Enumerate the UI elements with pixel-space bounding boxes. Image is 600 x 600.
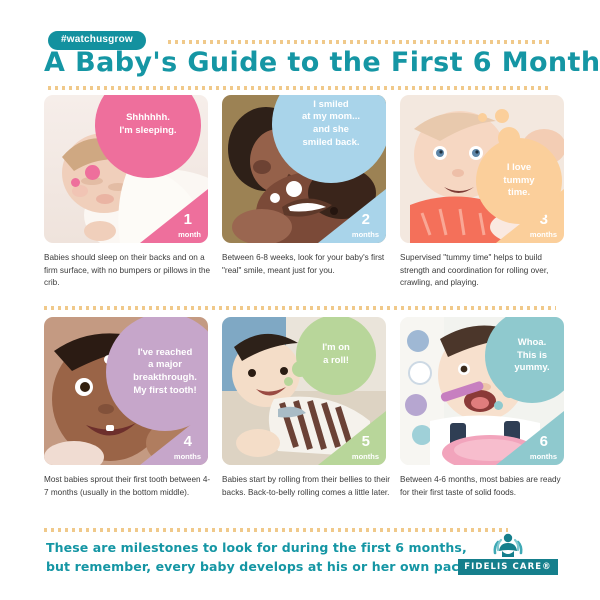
speech-bubble-dot-small (494, 401, 503, 410)
speech-bubble-text: I smiled at my mom... and she smiled bac… (302, 99, 360, 149)
speech-bubble-dot-small (284, 377, 293, 386)
header: #watchusgrow A Baby's Guide to the First… (0, 0, 600, 95)
month-unit: months (174, 453, 201, 461)
month-unit: months (530, 231, 557, 239)
card-photo: Whoa. This is yummy. 6 months (400, 317, 564, 465)
month-number: 6 (540, 434, 548, 449)
milestone-grid: Shhhhhh. I'm sleeping. 1 month Babies sh… (0, 95, 600, 520)
card-caption: Between 6-8 weeks, look for your baby's … (222, 252, 390, 277)
milestone-row-2: I've reached a major breakthrough. My fi… (0, 305, 600, 520)
speech-bubble: I love tummy time. (476, 138, 562, 224)
card-caption: Between 4-6 months, most babies are read… (400, 474, 568, 499)
milestone-card-3-months[interactable]: I love tummy time. 3 months Supervised "… (400, 95, 564, 305)
speech-bubble: I'm on a roll! (296, 317, 376, 395)
month-badge: 6 months (496, 411, 564, 465)
speech-bubble-dot-small (71, 178, 80, 187)
footer: These are milestones to look for during … (0, 523, 600, 600)
card-caption: Babies start by rolling from their belli… (222, 474, 390, 499)
month-unit: months (352, 453, 379, 461)
card-photo: I smiled at my mom... and she smiled bac… (222, 95, 386, 243)
dotted-divider-under-title (48, 86, 552, 90)
page-title: A Baby's Guide to the First 6 Months (44, 47, 600, 78)
card-photo: I'm on a roll! 5 months (222, 317, 386, 465)
speech-bubble-dot-medium (286, 181, 302, 197)
speech-bubble-text: I've reached a major breakthrough. My fi… (133, 347, 197, 397)
card-photo: Shhhhhh. I'm sleeping. 1 month (44, 95, 208, 243)
footer-line-1: These are milestones to look for during … (46, 538, 472, 557)
speech-bubble-dot-small (270, 193, 280, 203)
month-unit: months (352, 231, 379, 239)
speech-bubble-text: Whoa. This is yummy. (514, 337, 549, 375)
milestone-card-2-months[interactable]: I smiled at my mom... and she smiled bac… (222, 95, 386, 305)
month-badge: 5 months (318, 411, 386, 465)
milestone-row-1: Shhhhhh. I'm sleeping. 1 month Babies sh… (0, 95, 600, 305)
milestone-card-4-months[interactable]: I've reached a major breakthrough. My fi… (44, 317, 208, 520)
card-caption: Most babies sprout their first tooth bet… (44, 474, 212, 499)
month-number: 2 (362, 212, 370, 227)
speech-bubble-dot-medium (85, 165, 100, 180)
fidelis-care-wordmark: FIDELIS CARE® (458, 559, 558, 575)
month-badge: 2 months (318, 189, 386, 243)
speech-bubble-text: I'm on a roll! (322, 342, 350, 367)
footer-message: These are milestones to look for during … (46, 538, 472, 577)
speech-bubble-text: I love tummy time. (503, 162, 534, 200)
milestone-card-1-month[interactable]: Shhhhhh. I'm sleeping. 1 month Babies sh… (44, 95, 208, 305)
month-unit: months (530, 453, 557, 461)
speech-bubble-text: Shhhhhh. I'm sleeping. (119, 112, 176, 137)
card-caption: Babies should sleep on their backs and o… (44, 252, 212, 290)
infographic-page: #watchusgrow A Baby's Guide to the First… (0, 0, 600, 600)
month-number: 5 (362, 434, 370, 449)
milestone-card-5-months[interactable]: I'm on a roll! 5 months Babies start by … (222, 317, 386, 520)
card-caption: Supervised "tummy time" helps to build s… (400, 252, 568, 290)
month-number: 4 (184, 434, 192, 449)
month-unit: month (178, 231, 201, 239)
month-number: 1 (184, 212, 192, 227)
month-badge: 1 month (140, 189, 208, 243)
fidelis-figure-icon (492, 533, 524, 559)
fidelis-care-logo[interactable]: FIDELIS CARE® (458, 533, 558, 581)
dotted-divider-footer (44, 528, 508, 532)
card-photo: I've reached a major breakthrough. My fi… (44, 317, 208, 465)
milestone-card-6-months[interactable]: Whoa. This is yummy. 6 months Between 4-… (400, 317, 564, 520)
dotted-divider-top (168, 40, 552, 44)
card-photo: I love tummy time. 3 months (400, 95, 564, 243)
speech-bubble-dot-small (478, 113, 487, 122)
footer-line-2: but remember, every baby develops at his… (46, 557, 472, 576)
dotted-divider-middle (44, 306, 556, 310)
speech-bubble-dot-medium (495, 109, 509, 123)
